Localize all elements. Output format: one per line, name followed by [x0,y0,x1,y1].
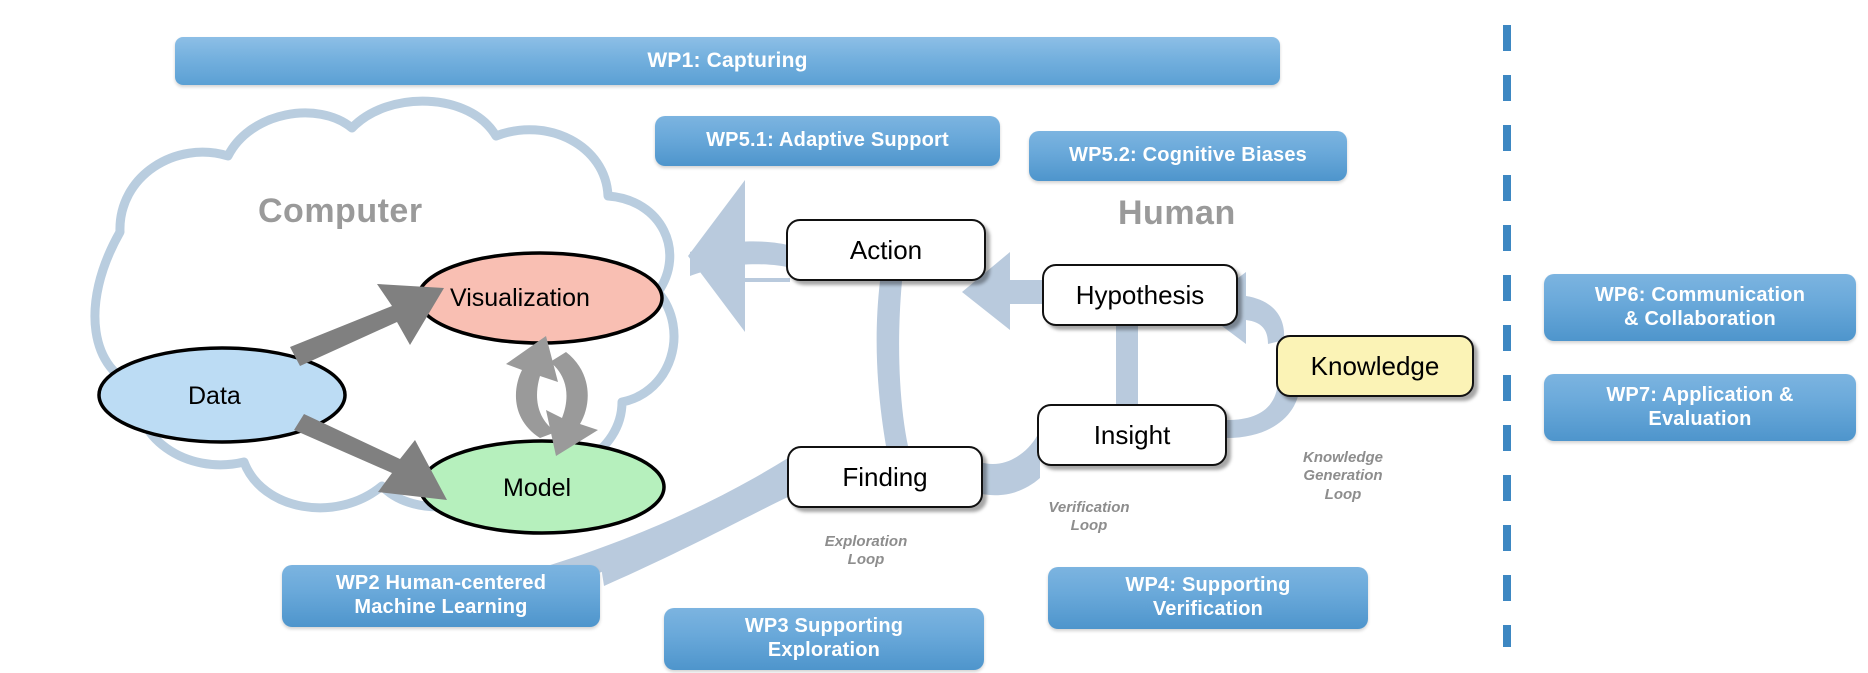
wp1-capturing-banner[interactable]: WP1: Capturing [175,37,1280,85]
exploration-loop-label: Exploration Loop [806,533,926,570]
arrow-hypothesis-to-insight [1116,326,1138,406]
wp7-application-evaluation-label[interactable]: WP7: Application & Evaluation [1544,374,1856,441]
model-node-label: Model [503,474,571,503]
data-node-label: Data [188,382,241,411]
wp4-supporting-verification-label[interactable]: WP4: Supporting Verification [1048,567,1368,629]
verification-loop-label: Verification Loop [1034,499,1144,536]
arrow-action-to-finding [877,281,908,446]
computer-region-label: Computer [258,192,423,231]
hypothesis-node[interactable]: Hypothesis [1042,264,1238,326]
visualization-node-label: Visualization [450,284,590,313]
human-region-label: Human [1118,194,1236,233]
section-divider-dashed-line [1503,25,1511,647]
action-node[interactable]: Action [786,219,986,281]
knowledge-generation-loop-label: Knowledge Generation Loop [1288,449,1398,504]
finding-node[interactable]: Finding [787,446,983,508]
wp6-communication-collaboration-label[interactable]: WP6: Communication & Collaboration [1544,274,1856,341]
wp5-1-adaptive-support-label[interactable]: WP5.1: Adaptive Support [655,116,1000,166]
wp2-human-centered-ml-label[interactable]: WP2 Human-centered Machine Learning [282,565,600,627]
insight-node[interactable]: Insight [1037,404,1227,466]
knowledge-node[interactable]: Knowledge [1276,335,1474,397]
wp5-2-cognitive-biases-label[interactable]: WP5.2: Cognitive Biases [1029,131,1347,181]
diagram-canvas: WP1: Capturing WP5.1: Adaptive Support W… [0,0,1868,673]
wp3-supporting-exploration-label[interactable]: WP3 Supporting Exploration [664,608,984,670]
